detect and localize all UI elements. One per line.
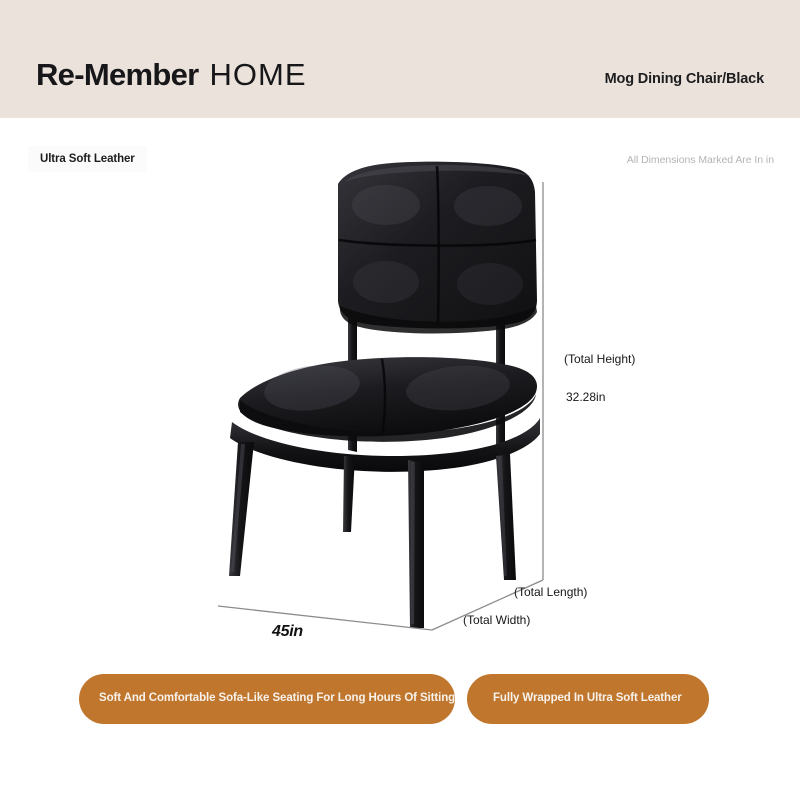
- total-width-value: 45in: [272, 623, 303, 641]
- feature-pill-seating-label: Soft And Comfortable Sofa-Like Seating F…: [99, 691, 455, 707]
- material-tag: Ultra Soft Leather: [28, 146, 147, 172]
- total-width-label: (Total Width): [463, 613, 530, 627]
- total-height-value: 32.28in: [566, 390, 605, 404]
- feature-pill-seating: Soft And Comfortable Sofa-Like Seating F…: [79, 674, 455, 724]
- brand-logo: Re-Member HOME: [36, 59, 307, 90]
- feature-pill-leather: Fully Wrapped In Ultra Soft Leather: [467, 674, 709, 724]
- total-length-label: (Total Length): [514, 585, 587, 599]
- product-image-chair: [196, 160, 556, 680]
- brand-name-primary: Re-Member: [36, 59, 199, 90]
- units-note: All Dimensions Marked Are In in: [627, 154, 774, 166]
- header-band: Re-Member HOME Mog Dining Chair/Black: [0, 0, 800, 118]
- product-title: Mog Dining Chair/Black: [605, 71, 764, 87]
- brand-name-secondary: HOME: [210, 59, 307, 90]
- feature-pill-leather-label: Fully Wrapped In Ultra Soft Leather: [493, 691, 682, 707]
- total-height-label: (Total Height): [564, 352, 635, 366]
